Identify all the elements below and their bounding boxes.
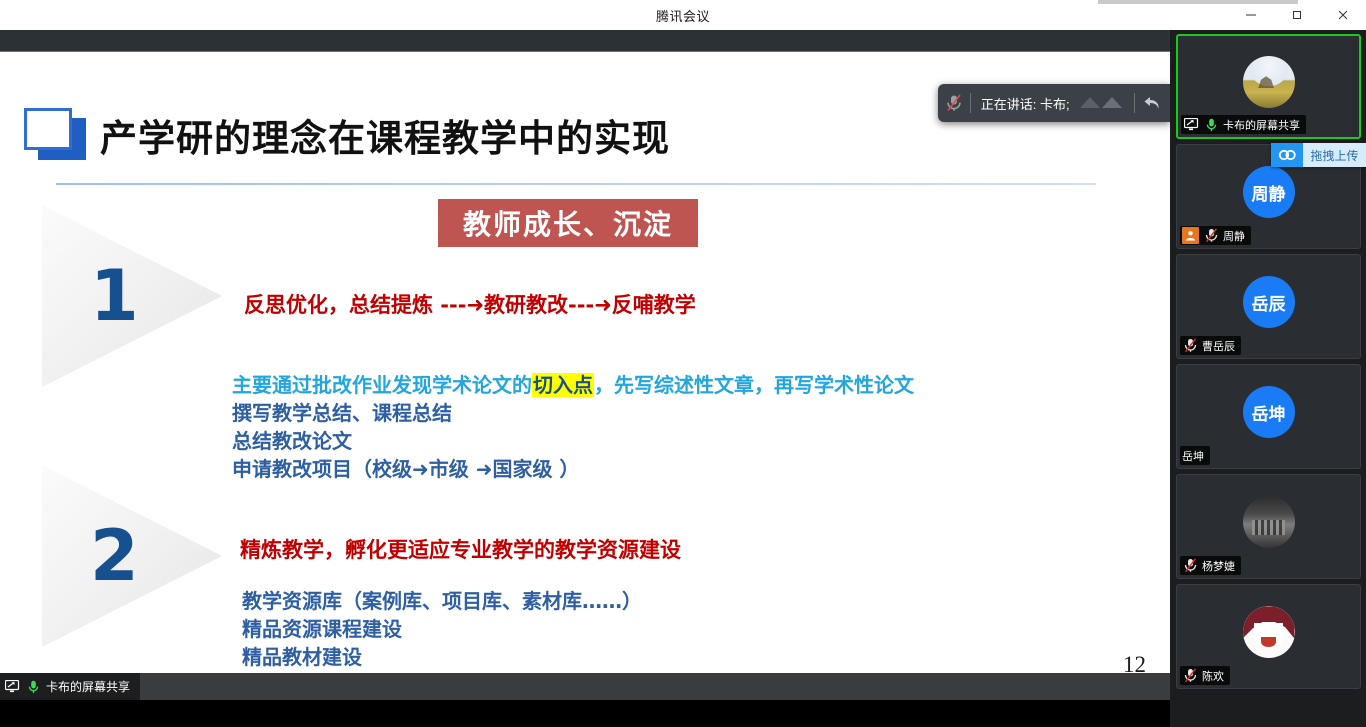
mic-on-icon — [25, 679, 41, 695]
presentation-slide: 产学研的理念在课程教学中的实现 教师成长、沉淀 1 反思优化，总结提炼 ---➜… — [0, 53, 1170, 700]
participant-tile-5[interactable]: 陈欢 — [1176, 584, 1361, 689]
section-1-line-4: 申请教改项目（校级➜市级 ➜国家级 ） — [232, 455, 914, 483]
participant-tile-4[interactable]: 杨梦婕 — [1176, 474, 1361, 579]
participant-name-chip-5: 陈欢 — [1180, 666, 1230, 685]
slide-banner-label: 教师成长、沉淀 — [463, 203, 673, 243]
slide-logo-icon — [24, 108, 86, 160]
taskbar: 卡布的屏幕共享 — [0, 673, 1170, 700]
participant-name-chip-1: 周静 — [1180, 226, 1251, 245]
minimize-button[interactable] — [1228, 0, 1274, 30]
slide-banner: 教师成长、沉淀 — [438, 199, 698, 247]
slide-title: 产学研的理念在课程教学中的实现 — [100, 108, 670, 162]
section-2-line-3: 精品教材建设 — [242, 643, 642, 671]
mic-muted-icon — [1182, 668, 1198, 684]
return-arrow-icon[interactable] — [1135, 94, 1171, 112]
window-titlebar: 腾讯会议 — [0, 0, 1366, 30]
participant-name-4: 杨梦婕 — [1202, 558, 1235, 574]
avatar — [1243, 606, 1295, 658]
participant-name-chip-2: 曹岳辰 — [1180, 336, 1241, 355]
section-1-line-3: 总结教改论文 — [232, 427, 914, 455]
participant-name-3: 岳坤 — [1182, 448, 1204, 464]
shared-screen-top-band — [0, 30, 1170, 52]
section-1-line-1-pre: 主要通过批改作业发现学术论文的 — [232, 373, 532, 397]
avatar: 周静 — [1243, 166, 1295, 218]
section-1-line-1-post: ，先写综述性文章，再写学术性论文 — [594, 373, 914, 397]
netdisk-upload-widget[interactable]: 拖拽上传 — [1271, 143, 1366, 167]
mic-muted-icon — [1182, 338, 1198, 354]
mic-muted-icon — [1203, 228, 1219, 244]
host-badge-icon — [1182, 227, 1199, 244]
section-1-body: 主要通过批改作业发现学术论文的切入点，先写综述性文章，再写学术性论文 撰写教学总… — [232, 371, 914, 483]
maximize-button[interactable] — [1274, 0, 1320, 30]
netdisk-upload-label: 拖拽上传 — [1303, 143, 1366, 167]
participant-name-chip-3: 岳坤 — [1180, 446, 1210, 465]
avatar: 岳坤 — [1243, 386, 1295, 438]
mic-on-icon — [1203, 117, 1219, 133]
participant-name-2: 曹岳辰 — [1202, 338, 1235, 354]
meeting-float-toolbar[interactable]: 正在讲话: 卡布; — [938, 84, 1170, 122]
close-button[interactable] — [1320, 0, 1366, 30]
section-1-line-1: 主要通过批改作业发现学术论文的切入点，先写综述性文章，再写学术性论文 — [232, 371, 914, 399]
screen-share-icon — [4, 679, 20, 695]
section-marker-2-number: 2 — [90, 521, 139, 591]
avatar — [1243, 56, 1295, 108]
participant-name-chip-4: 杨梦婕 — [1180, 556, 1241, 575]
participant-name-chip-0: 卡布的屏幕共享 — [1181, 115, 1306, 134]
avatar: 岳辰 — [1243, 276, 1295, 328]
section-marker-1-number: 1 — [90, 261, 139, 331]
shared-screen-area[interactable]: 产学研的理念在课程教学中的实现 教师成长、沉淀 1 反思优化，总结提炼 ---➜… — [0, 30, 1170, 700]
participant-name-5: 陈欢 — [1202, 668, 1224, 684]
mic-muted-icon[interactable] — [938, 94, 970, 112]
window-title: 腾讯会议 — [656, 6, 710, 25]
speaking-status-label: 正在讲话: 卡布; — [971, 94, 1070, 113]
window-controls — [1228, 0, 1366, 30]
section-marker-1: 1 — [42, 205, 222, 387]
double-chevron-collapse-icon[interactable] — [1070, 92, 1134, 114]
section-2-line-2: 精品资源课程建设 — [242, 615, 642, 643]
slide-title-rule — [56, 183, 1096, 185]
participant-tile-0[interactable]: 卡布的屏幕共享 — [1176, 34, 1361, 139]
taskbar-screen-share-item[interactable]: 卡布的屏幕共享 — [0, 673, 140, 700]
mic-muted-icon — [1182, 558, 1198, 574]
section-1-line-1-highlight: 切入点 — [532, 373, 594, 397]
participant-name-0: 卡布的屏幕共享 — [1223, 117, 1300, 133]
avatar — [1243, 496, 1295, 548]
participant-roster[interactable]: 卡布的屏幕共享 周静 周静 岳辰 — [1170, 30, 1366, 727]
section-2-line-1: 教学资源库（案例库、项目库、素材库……） — [242, 587, 642, 615]
taskbar-item-label: 卡布的屏幕共享 — [46, 678, 130, 695]
participant-tile-2[interactable]: 岳辰 曹岳辰 — [1176, 254, 1361, 359]
section-marker-2: 2 — [42, 465, 222, 647]
screen-share-icon — [1183, 117, 1199, 133]
baidu-netdisk-cloud-icon — [1271, 143, 1303, 167]
section-1-line-2: 撰写教学总结、课程总结 — [232, 399, 914, 427]
participant-name-1: 周静 — [1223, 228, 1245, 244]
section-2-heading: 精炼教学，孵化更适应专业教学的教学资源建设 — [240, 534, 681, 564]
section-1-heading: 反思优化，总结提炼 ---➜教研教改---➜反哺教学 — [244, 289, 696, 319]
participant-tile-3[interactable]: 岳坤 岳坤 — [1176, 364, 1361, 469]
